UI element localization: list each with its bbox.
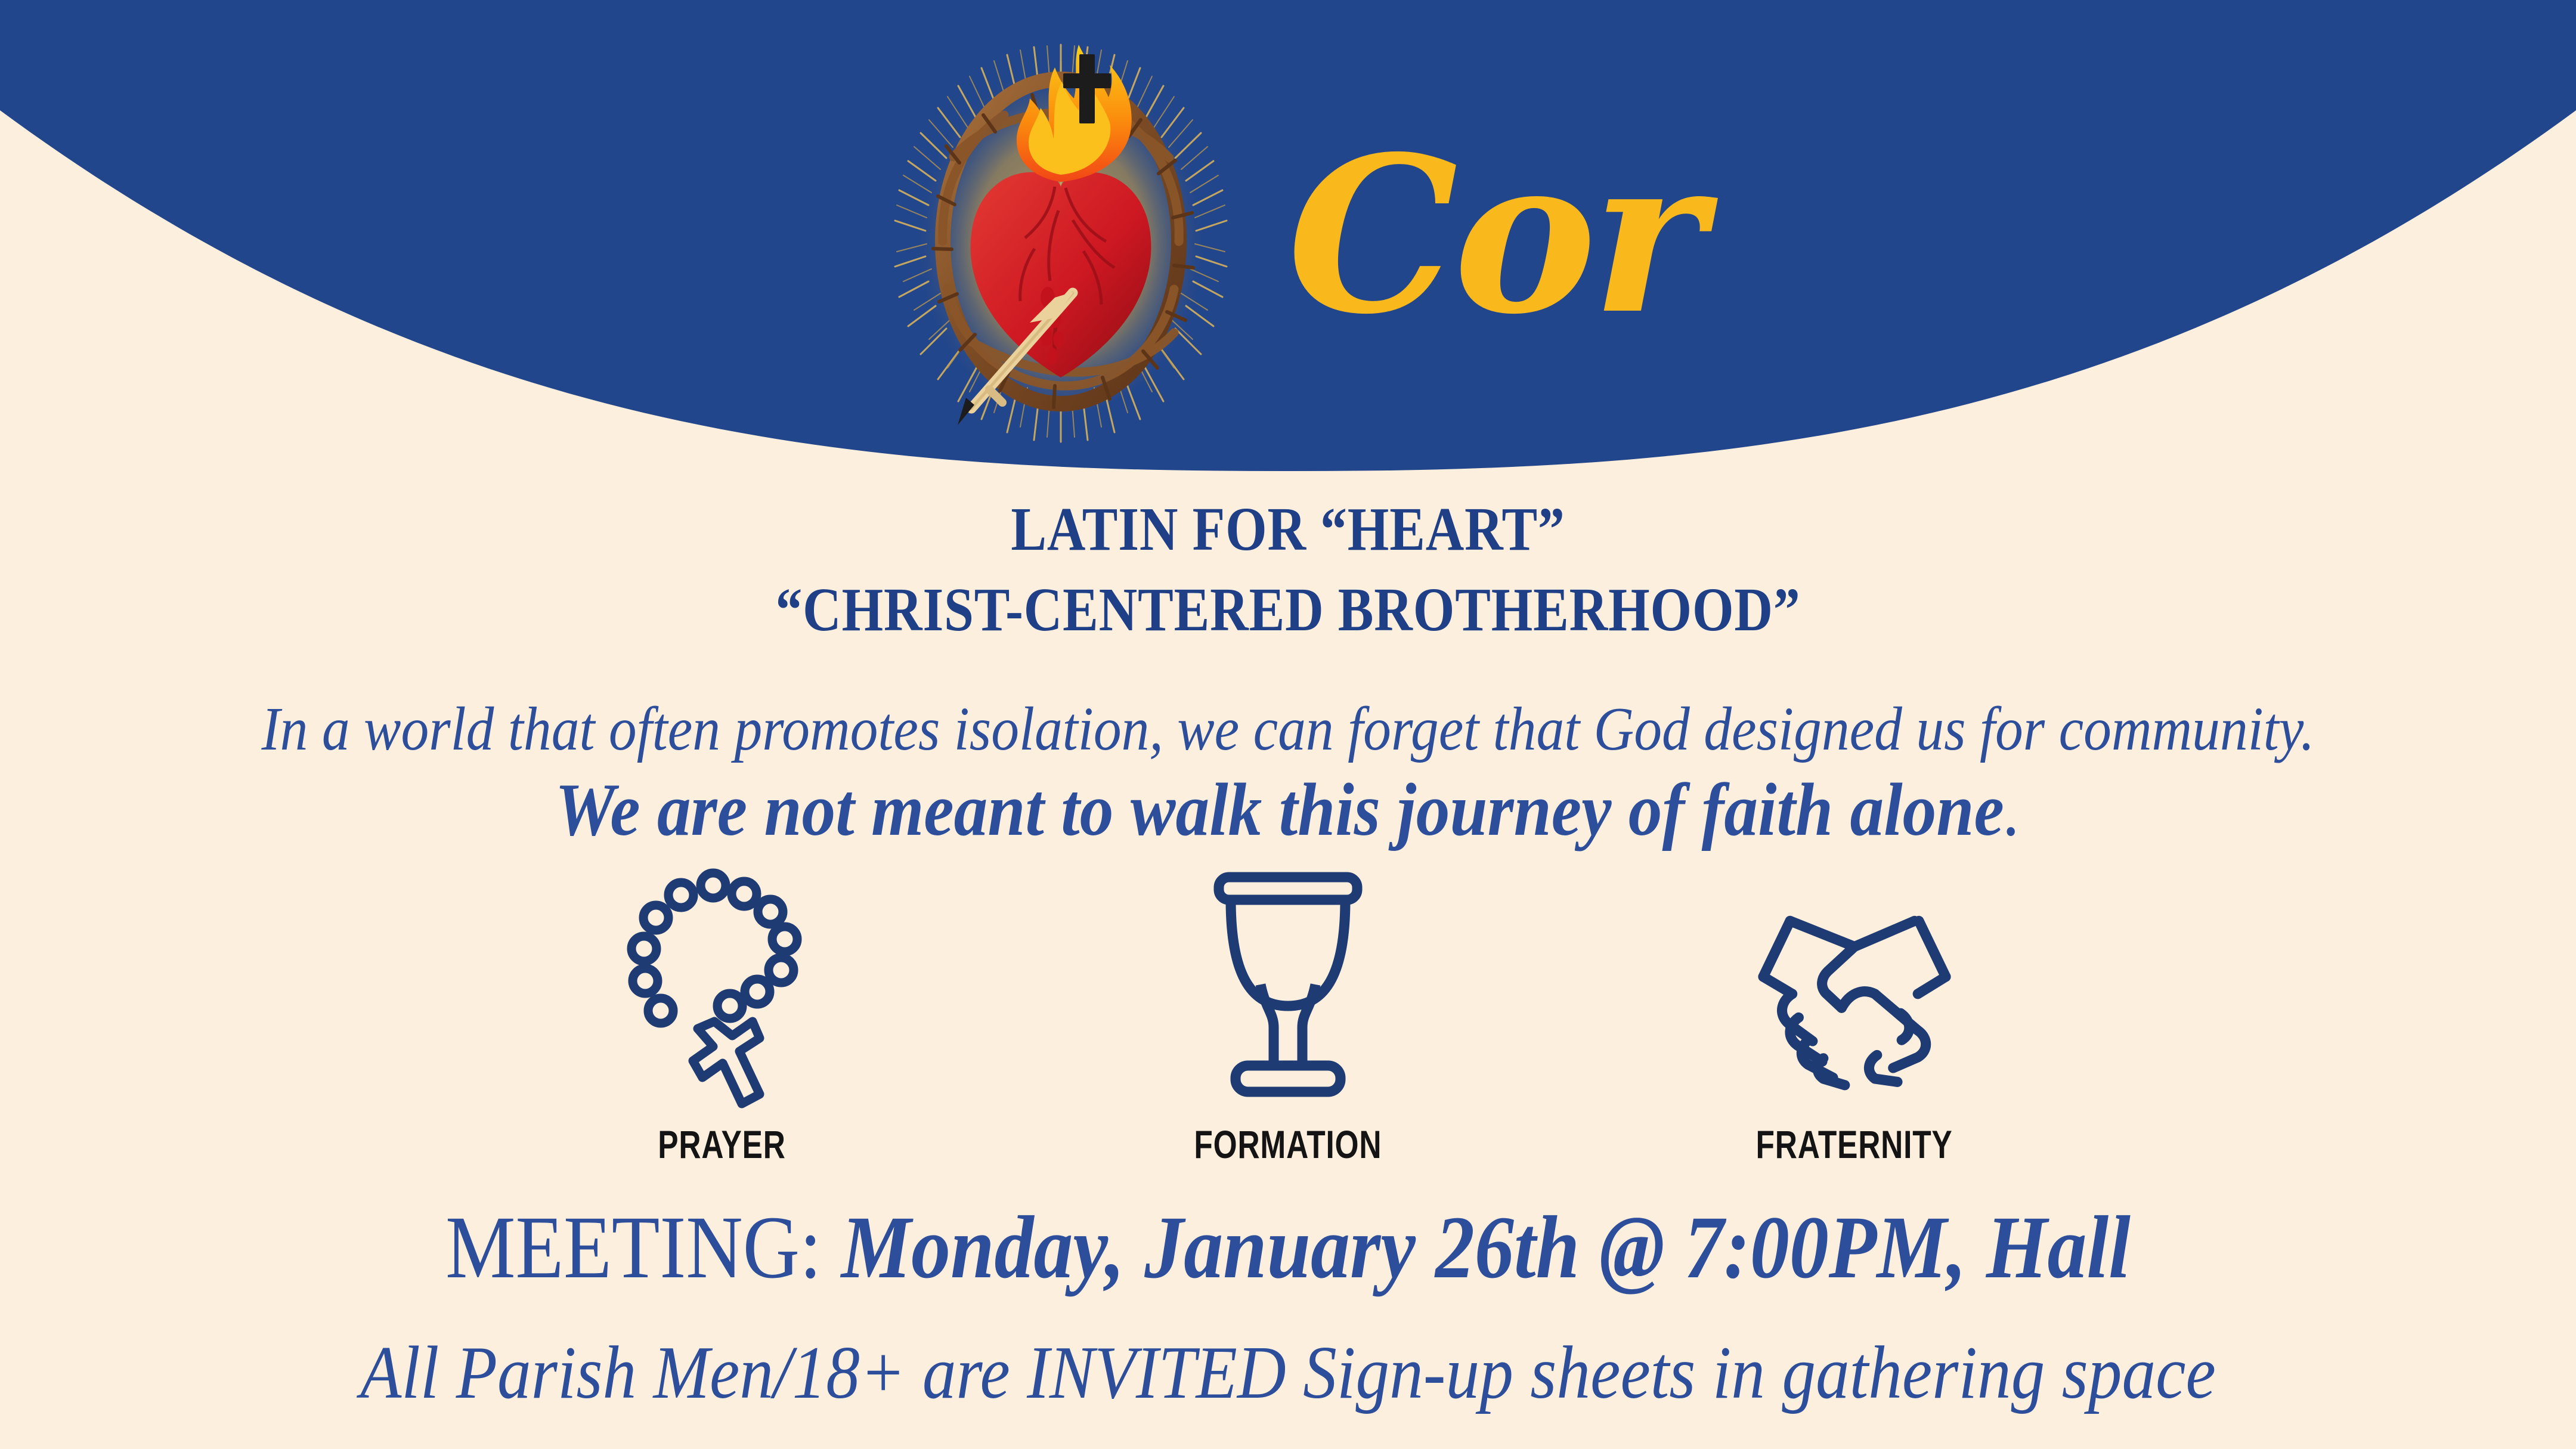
intro-sentence-two-text: We are not meant to walk this journey of… — [555, 769, 2004, 852]
handshake-icon — [1747, 868, 1962, 1118]
pillar-prayer: PRAYER — [578, 868, 865, 1167]
intro-block: In a world that often promotes isolation… — [0, 695, 2576, 853]
headline-block: LATIN FOR “HEART” “CHRIST-CENTERED BROTH… — [0, 489, 2576, 650]
intro-sentence-two: We are not meant to walk this journey of… — [129, 767, 2447, 853]
rosary-icon — [614, 868, 829, 1118]
sacred-heart-emblem — [876, 8, 1246, 449]
headline-latin-for-heart: LATIN FOR “HEART” — [180, 489, 2395, 569]
intro-sentence-two-period: . — [2004, 769, 2021, 852]
pillar-label-fraternity: FRATERNITY — [1756, 1122, 1953, 1167]
intro-sentence-one: In a world that often promotes isolation… — [129, 695, 2447, 764]
invite-line: All Parish Men/18+ are INVITED Sign-up s… — [129, 1330, 2447, 1417]
pillars-row: PRAYER FORMATION — [0, 868, 2576, 1167]
chalice-icon — [1181, 868, 1395, 1118]
cor-wordmark: Cor — [1287, 128, 1700, 343]
pillar-label-formation: FORMATION — [1194, 1122, 1382, 1167]
pillar-fraternity: FRATERNITY — [1711, 868, 1998, 1167]
invite-block: All Parish Men/18+ are INVITED Sign-up s… — [0, 1330, 2576, 1417]
meeting-label: MEETING: — [445, 1198, 841, 1297]
pillar-label-prayer: PRAYER — [658, 1122, 786, 1167]
meeting-details: Monday, January 26th @ 7:00PM, Hall — [841, 1198, 2131, 1297]
meeting-block: MEETING: Monday, January 26th @ 7:00PM, … — [0, 1196, 2576, 1299]
pillar-formation: FORMATION — [1145, 868, 1431, 1167]
poster-canvas: Cor LATIN FOR “HEART” “CHRIST-CENTERED B… — [0, 0, 2576, 1449]
headline-christ-centered-brotherhood: “CHRIST-CENTERED BROTHERHOOD” — [180, 569, 2395, 650]
logo-lockup: Cor — [0, 0, 2576, 453]
meeting-line: MEETING: Monday, January 26th @ 7:00PM, … — [154, 1196, 2422, 1299]
